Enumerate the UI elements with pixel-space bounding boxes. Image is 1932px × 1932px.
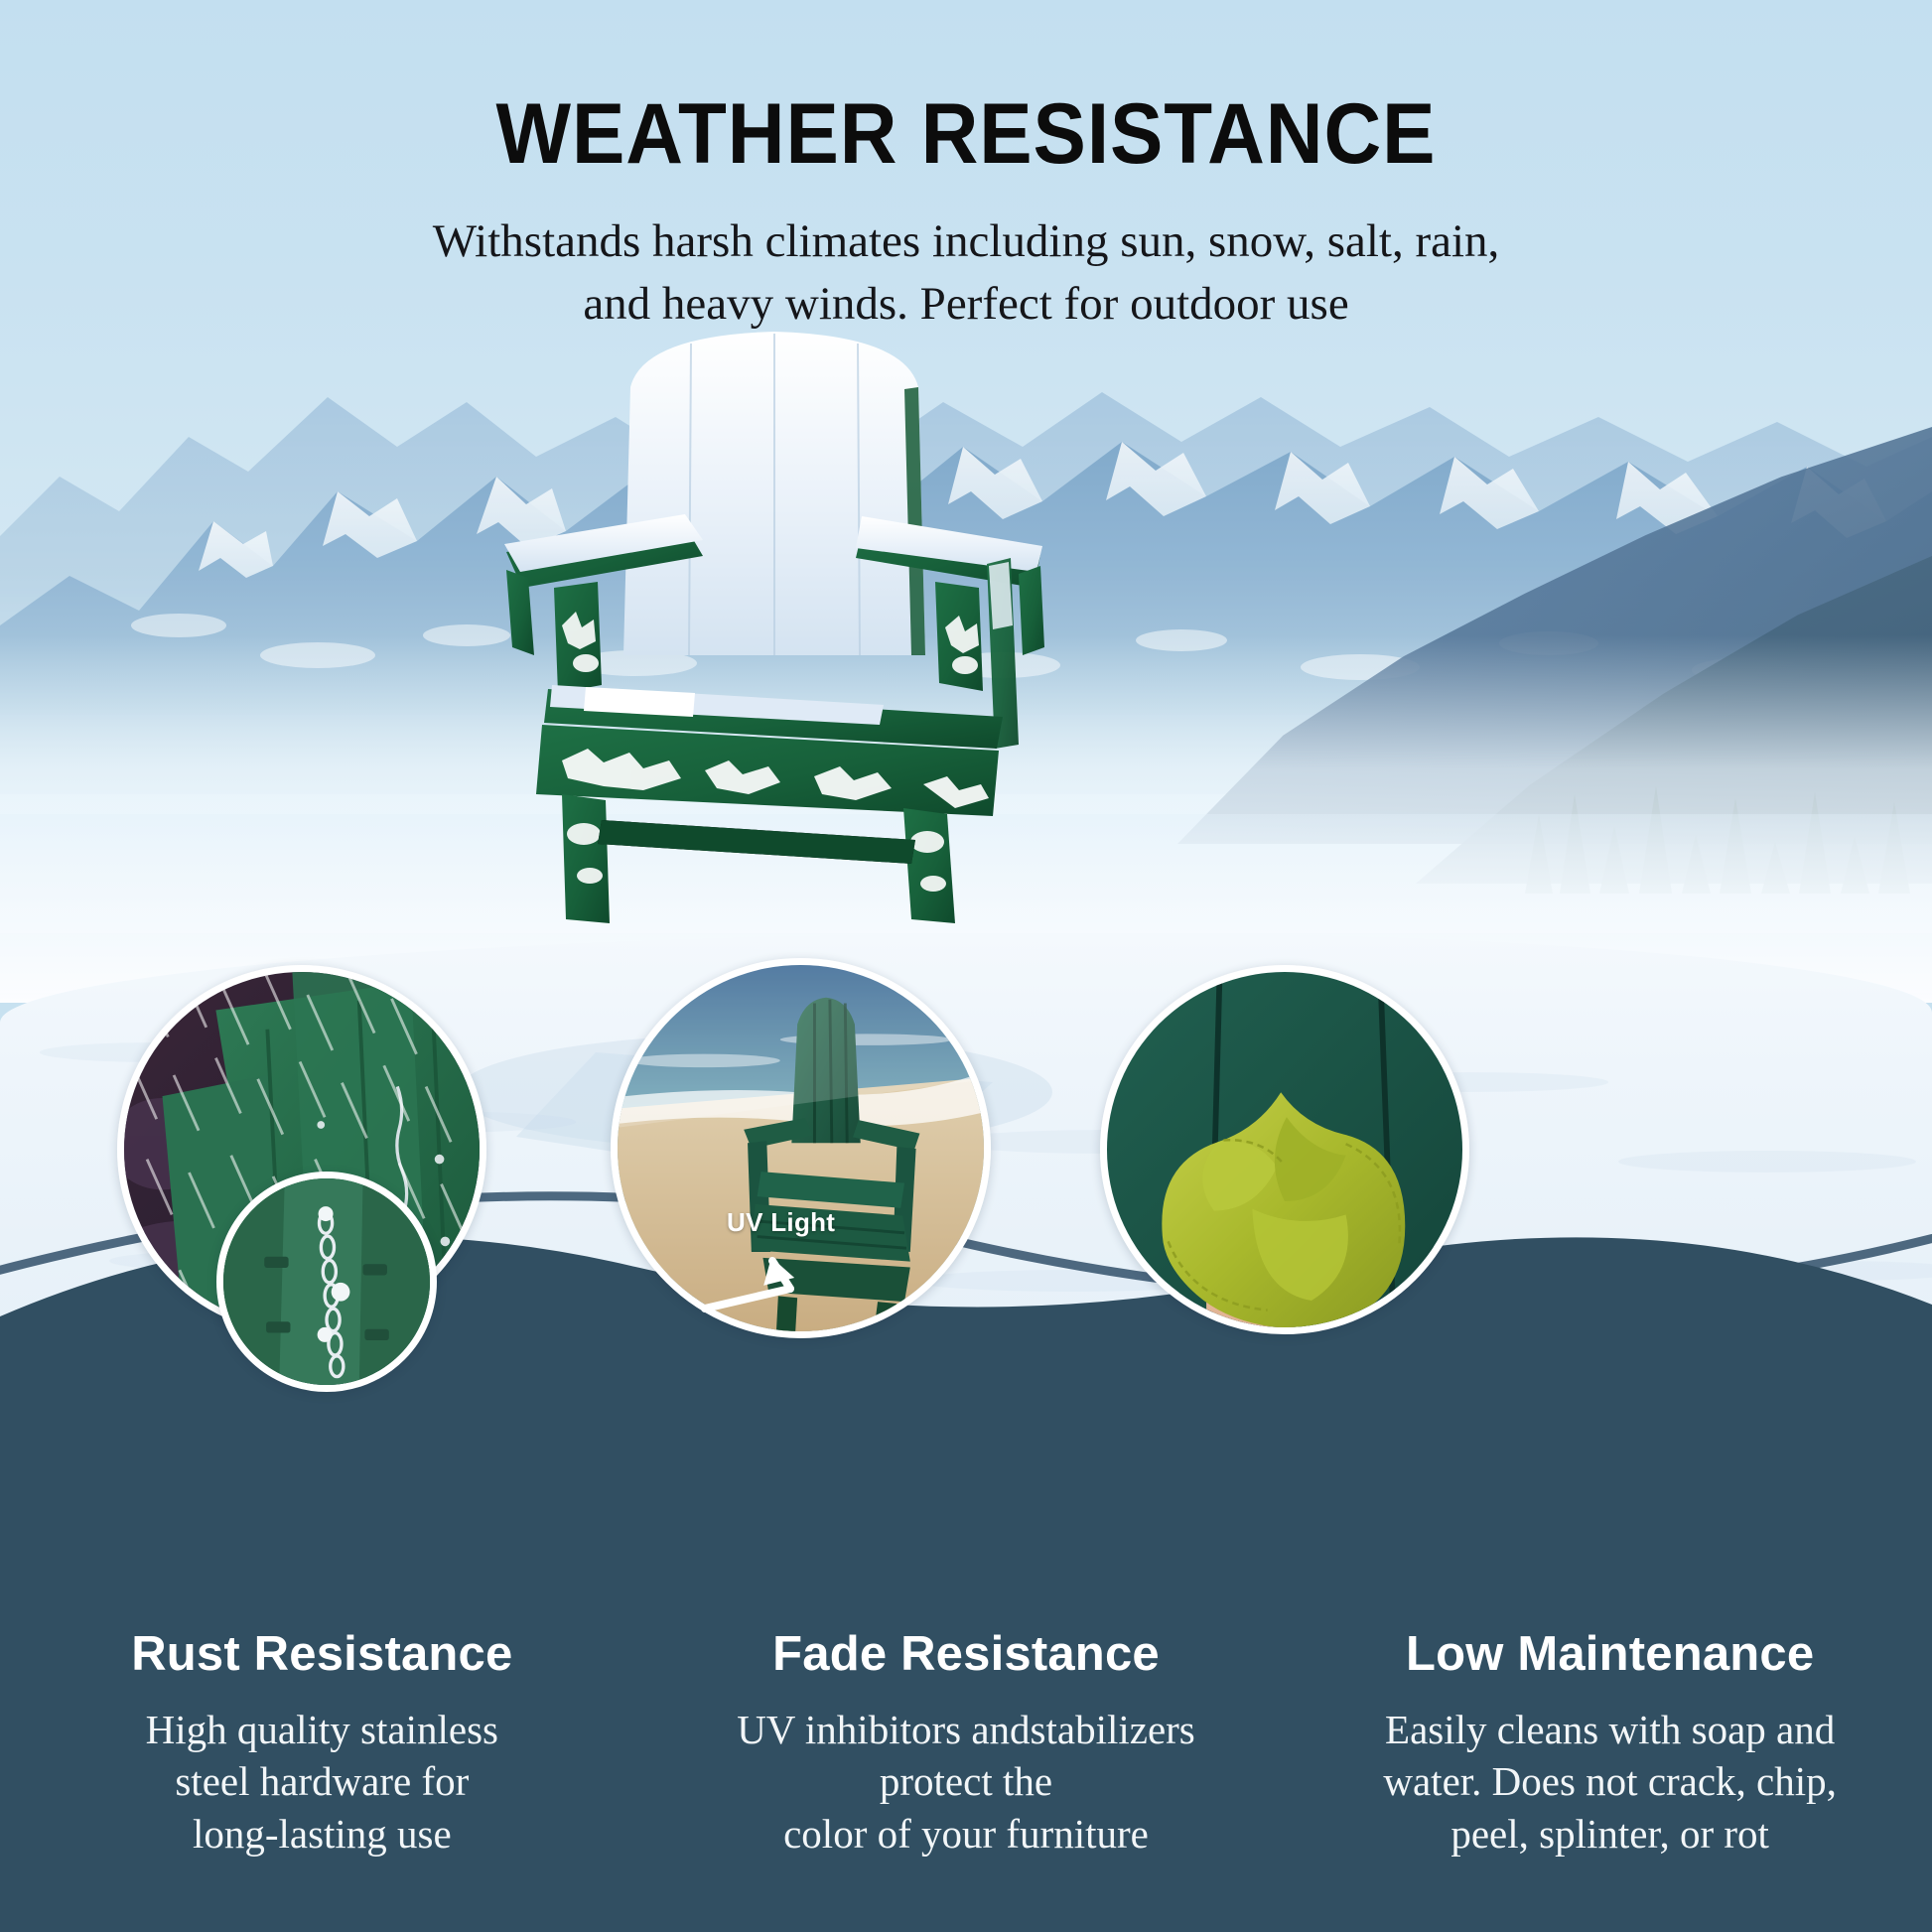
feature-description: UV inhibitors andstabilizers protect the… <box>672 1704 1261 1860</box>
page-title: WEATHER RESISTANCE <box>68 91 1864 177</box>
feature-desc-line: long-lasting use <box>28 1808 617 1860</box>
page-subtitle: Withstands harsh climates including sun,… <box>0 210 1932 335</box>
feature-desc-line: color of your furniture <box>672 1808 1261 1860</box>
feature-title: Low Maintenance <box>1315 1628 1904 1682</box>
uv-light-arrow-icon <box>695 1231 844 1330</box>
subtitle-line-1: Withstands harsh climates including sun,… <box>0 210 1932 273</box>
feature-rust-resistance: Rust Resistance High quality stainless s… <box>0 1628 644 1860</box>
infographic-canvas: UV Light WEATHER RESISTANCE Withstands h… <box>0 0 1932 1932</box>
feature-desc-line: water. Does not crack, chip, <box>1315 1755 1904 1807</box>
feature-desc-line: steel hardware for <box>28 1755 617 1807</box>
feature-title: Rust Resistance <box>28 1628 617 1682</box>
feature-fade-resistance: Fade Resistance UV inhibitors andstabili… <box>644 1628 1289 1860</box>
feature-desc-line: peel, splinter, or rot <box>1315 1808 1904 1860</box>
feature-list: Rust Resistance High quality stainless s… <box>0 1628 1932 1860</box>
feature-desc-line: Easily cleans with soap and <box>1315 1704 1904 1755</box>
hand-wiping-cloth-photo <box>1107 972 1462 1327</box>
feature-low-maintenance: Low Maintenance Easily cleans with soap … <box>1288 1628 1932 1860</box>
stainless-chain-photo <box>223 1178 430 1385</box>
feature-image-low-maintenance <box>1100 965 1469 1334</box>
feature-description: High quality stainless steel hardware fo… <box>28 1704 617 1860</box>
feature-description: Easily cleans with soap and water. Does … <box>1315 1704 1904 1860</box>
feature-desc-line: protect the <box>672 1755 1261 1807</box>
feature-image-stainless-chain-inset <box>216 1172 437 1392</box>
header: WEATHER RESISTANCE Withstands harsh clim… <box>0 0 1932 335</box>
feature-desc-line: UV inhibitors andstabilizers <box>672 1704 1261 1755</box>
feature-title: Fade Resistance <box>672 1628 1261 1682</box>
feature-desc-line: High quality stainless <box>28 1704 617 1755</box>
subtitle-line-2: and heavy winds. Perfect for outdoor use <box>0 273 1932 336</box>
